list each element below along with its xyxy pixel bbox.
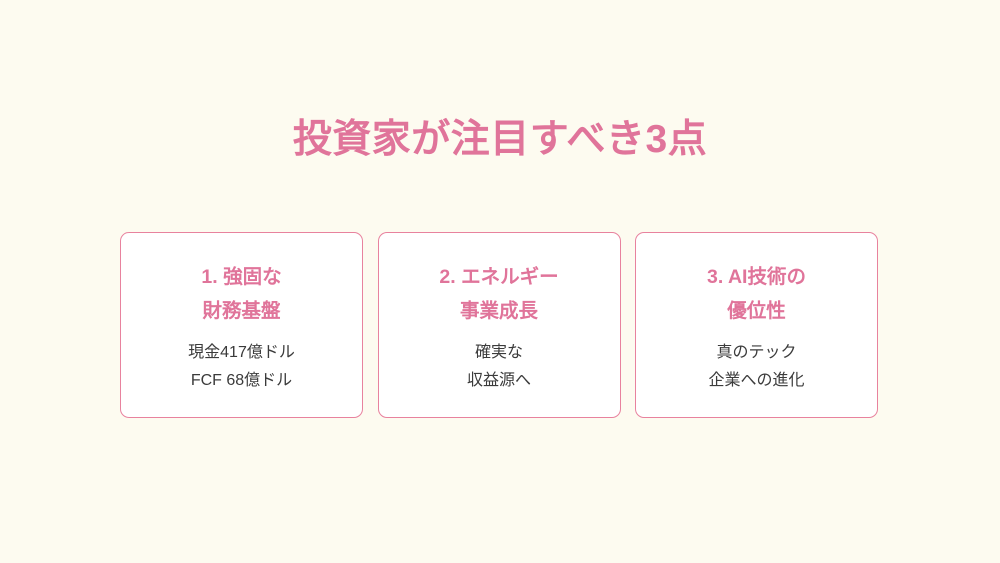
point-card-1[interactable]: 1. 強固な 財務基盤 現金417億ドル FCF 68億ドル (120, 232, 363, 418)
point-card-1-heading-line-1: 1. 強固な (201, 260, 281, 294)
point-card-1-heading-line-2: 財務基盤 (201, 294, 281, 328)
point-card-1-body-line-2: FCF 68億ドル (188, 367, 295, 395)
slide-canvas: 投資家が注目すべき3点 1. 強固な 財務基盤 現金417億ドル FCF 68億… (0, 0, 1000, 563)
point-card-2-heading-line-2: 事業成長 (439, 294, 558, 328)
point-card-2-heading-line-1: 2. エネルギー (439, 260, 558, 294)
point-card-2-body-line-2: 収益源へ (467, 367, 531, 395)
point-card-3-heading: 3. AI技術の 優位性 (707, 260, 806, 328)
point-card-1-body: 現金417億ドル FCF 68億ドル (188, 339, 295, 394)
point-card-3[interactable]: 3. AI技術の 優位性 真のテック 企業への進化 (635, 232, 878, 418)
point-card-2[interactable]: 2. エネルギー 事業成長 確実な 収益源へ (378, 232, 621, 418)
point-card-3-body-line-2: 企業への進化 (708, 367, 804, 395)
points-card-row: 1. 強固な 財務基盤 現金417億ドル FCF 68億ドル 2. エネルギー … (120, 232, 878, 418)
point-card-2-body: 確実な 収益源へ (467, 339, 531, 394)
point-card-3-heading-line-2: 優位性 (707, 294, 806, 328)
point-card-1-body-line-1: 現金417億ドル (188, 339, 295, 367)
point-card-3-heading-line-1: 3. AI技術の (707, 260, 806, 294)
point-card-1-heading: 1. 強固な 財務基盤 (201, 260, 281, 328)
point-card-2-body-line-1: 確実な (467, 339, 531, 367)
point-card-3-body-line-1: 真のテック (708, 339, 804, 367)
page-title: 投資家が注目すべき3点 (0, 118, 1000, 163)
point-card-2-heading: 2. エネルギー 事業成長 (439, 260, 558, 328)
point-card-3-body: 真のテック 企業への進化 (708, 339, 804, 394)
